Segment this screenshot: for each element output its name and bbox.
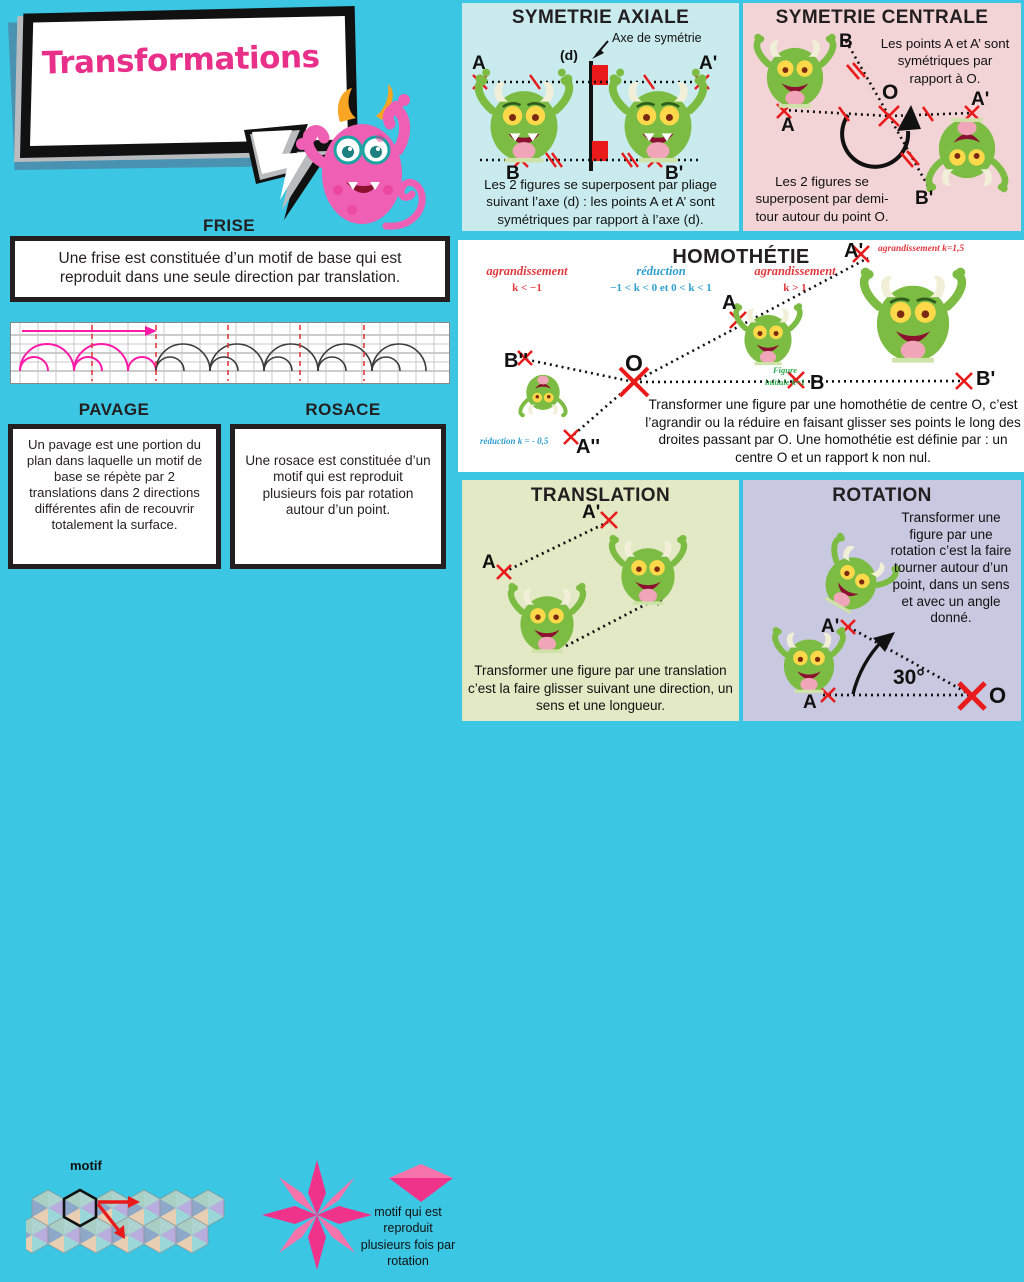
frise-definition-box: Une frise est constituée d’un motif de b…: [10, 236, 450, 302]
point-label-a-prime: A': [844, 240, 863, 263]
pavage-definition-box: Un pavage est une portion du plan dans l…: [8, 424, 221, 569]
point-label-a: A: [803, 692, 817, 714]
tag-figure-initiale-line2: initiale k=1: [748, 377, 822, 387]
point-label-a-prime: A': [821, 616, 839, 638]
point-label-a-prime: A': [699, 53, 717, 75]
rosace-motif-caption: motif qui est reproduit plusieurs fois p…: [358, 1204, 458, 1269]
rotation-caption: Transformer une figure par une rotation …: [887, 510, 1015, 627]
motif-label: motif: [70, 1158, 102, 1173]
rosace-definition-text: Une rosace est constituée d’un motif qui…: [235, 429, 441, 519]
point-label-a: A: [722, 292, 736, 315]
point-label-b: B: [839, 31, 853, 53]
rosace-title: ROSACE: [228, 400, 458, 420]
point-label-b-double-prime: B'': [504, 350, 528, 373]
rotation-angle-label: 30°: [893, 666, 925, 690]
homothetie-caption: Transformer une figure par une homothéti…: [644, 396, 1022, 466]
frise-definition-text: Une frise est constituée d’un motif de b…: [15, 241, 445, 288]
frise-title: FRISE: [0, 216, 458, 236]
point-label-a-prime: A': [971, 89, 989, 111]
point-label-b-prime: B': [915, 188, 933, 210]
translation-caption: Transformer une figure par une translati…: [462, 662, 739, 715]
symetrie-centrale-panel: SYMETRIE CENTRALE: [743, 3, 1021, 231]
left-column: Transformations FRISE Une: [0, 0, 458, 721]
tag-figure-initiale-line1: Figure: [755, 365, 815, 375]
rosace-motif-icon: [385, 1162, 457, 1204]
symetrie-centrale-caption: Les 2 figures se superposent par demi-to…: [747, 173, 897, 225]
page-title: Transformations: [42, 38, 343, 81]
point-label-a: A: [472, 53, 486, 75]
point-label-a-prime: A': [582, 502, 600, 524]
bottom-illustration-band: motif: [0, 572, 458, 721]
hexagon-tiling-illustration: [26, 1172, 241, 1282]
pavage-definition-text: Un pavage est une portion du plan dans l…: [13, 429, 216, 534]
pavage-title: PAVAGE: [0, 400, 228, 420]
point-label-o: O: [989, 683, 1006, 709]
tag-reduction: réduction k = - 0,5: [480, 436, 548, 446]
symetrie-axiale-panel: SYMETRIE AXIALE Axe de symétrie (d): [462, 3, 739, 231]
translation-panel: TRANSLATION: [462, 480, 739, 721]
symetrie-centrale-note: Les points A et A’ sont symétriques par …: [875, 35, 1015, 87]
homothetie-panel: HOMOTHÉTIE agrandissement k < −1 réducti…: [458, 236, 1024, 476]
point-label-b-prime: B': [976, 368, 995, 391]
point-label-o: O: [882, 81, 898, 105]
point-label-a: A: [781, 115, 795, 137]
tag-agrandissement: agrandissement k=1,5: [878, 244, 964, 254]
pink-monster-mascot: [290, 78, 438, 230]
rosace-definition-box: Une rosace est constituée d’un motif qui…: [230, 424, 446, 569]
symetrie-axiale-caption: Les 2 figures se superposent par pliage …: [462, 176, 739, 228]
point-label-a: A: [482, 552, 496, 574]
rotation-panel: ROTATION: [743, 480, 1021, 721]
point-label-o: O: [625, 350, 643, 377]
point-label-a-double-prime: A'': [576, 436, 600, 459]
frise-illustration: [10, 322, 450, 384]
rosace-star-illustration: [262, 1156, 372, 1274]
transformations-poster: Transformations FRISE Une: [0, 0, 1024, 721]
